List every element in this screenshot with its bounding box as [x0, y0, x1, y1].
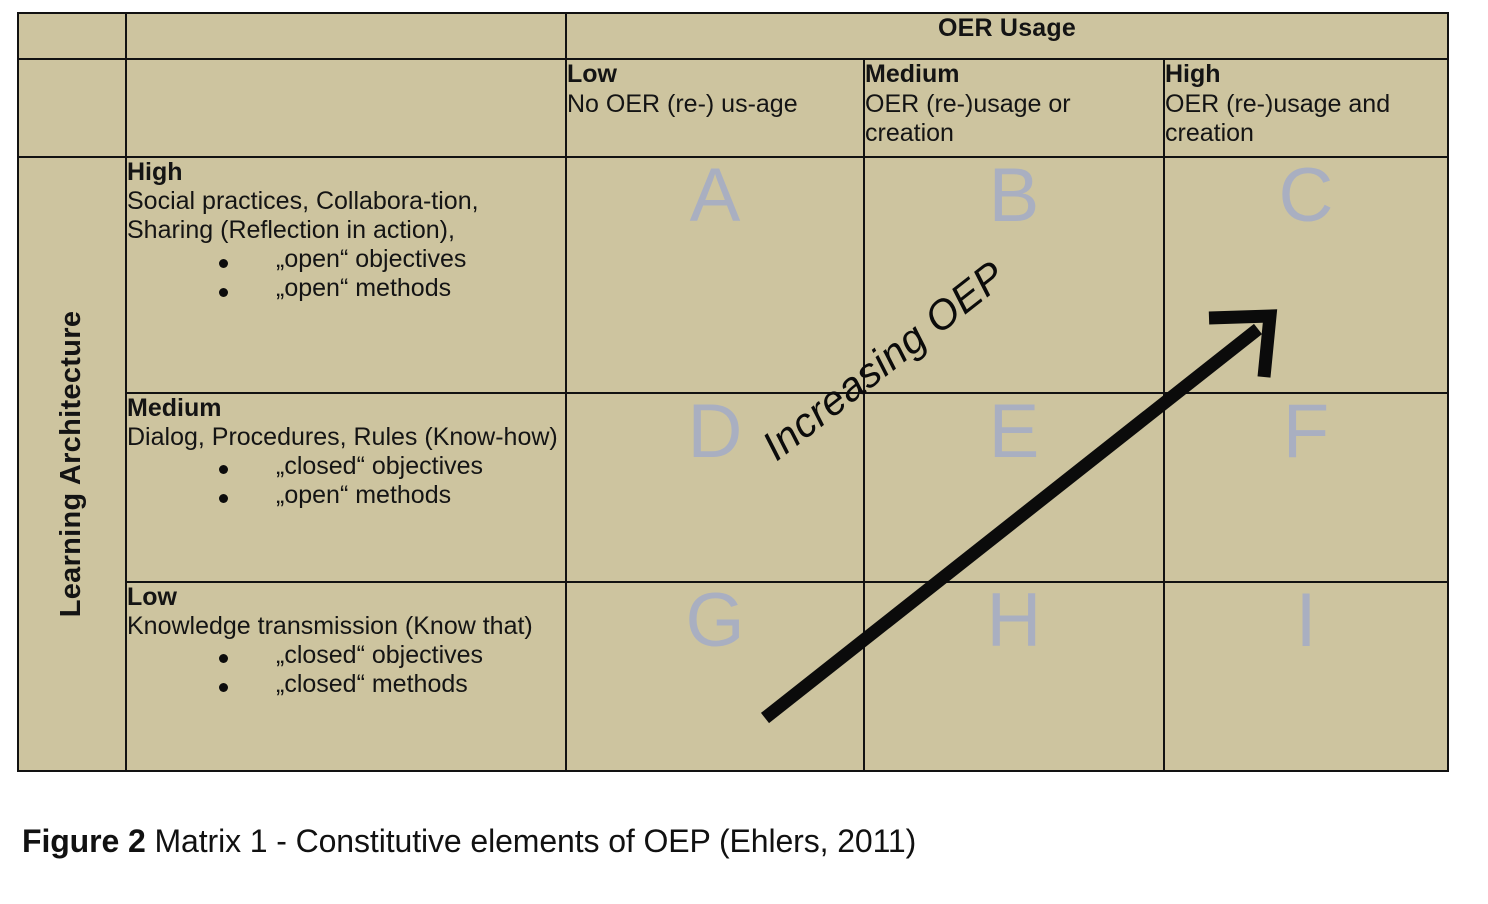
table-row-low: Low Knowledge transmission (Know that) „…: [18, 582, 1448, 771]
row-header-high: High Social practices, Collabora-tion, S…: [126, 157, 566, 393]
row-header-low-bullets: „closed“ objectives „closed“ methods: [127, 641, 565, 699]
cell-letter-E: E: [989, 394, 1040, 470]
matrix-table: OER Usage Low No OER (re-) us-age Medium…: [17, 12, 1449, 772]
list-item-label: „closed“ objectives: [276, 641, 483, 669]
oep-matrix: OER Usage Low No OER (re-) us-age Medium…: [17, 12, 1447, 772]
column-header-medium-desc: OER (re-)usage or creation: [865, 90, 1163, 148]
cell-letter-C: C: [1279, 158, 1334, 234]
bullet-icon: [219, 259, 228, 268]
corner-blank-left: [18, 13, 126, 59]
row-header-medium-level: Medium: [127, 394, 565, 423]
cell-D: D: [566, 393, 864, 582]
row-axis-title: Learning Architecture: [55, 311, 89, 618]
list-item: „closed“ objectives: [219, 452, 565, 481]
column-header-medium-level: Medium: [865, 60, 1163, 89]
column-header-low-desc: No OER (re-) us-age: [567, 90, 863, 119]
column-header-high-level: High: [1165, 60, 1447, 89]
column-axis-title: OER Usage: [566, 13, 1448, 59]
cell-letter-G: G: [685, 583, 744, 659]
corner-blank-left-2: [18, 59, 126, 157]
list-item: „open“ objectives: [219, 245, 565, 274]
bullet-icon: [219, 288, 228, 297]
cell-letter-I: I: [1295, 583, 1316, 659]
corner-blank-2: [126, 59, 566, 157]
row-header-low-level: Low: [127, 583, 565, 612]
figure-container: OER Usage Low No OER (re-) us-age Medium…: [0, 0, 1488, 904]
row-header-high-bullets: „open“ objectives „open“ methods: [127, 245, 565, 303]
row-header-low-desc: Knowledge transmission (Know that): [127, 612, 565, 641]
column-header-high-desc: OER (re-)usage and creation: [1165, 90, 1447, 148]
table-row-column-headers: Low No OER (re-) us-age Medium OER (re-)…: [18, 59, 1448, 157]
cell-I: I: [1164, 582, 1448, 771]
column-header-medium: Medium OER (re-)usage or creation: [864, 59, 1164, 157]
figure-caption-text: Matrix 1 - Constitutive elements of OEP …: [146, 823, 917, 859]
column-header-low-level: Low: [567, 60, 863, 89]
bullet-icon: [219, 683, 228, 692]
bullet-icon: [219, 654, 228, 663]
list-item: „open“ methods: [219, 481, 565, 510]
column-header-low: Low No OER (re-) us-age: [566, 59, 864, 157]
cell-B: B: [864, 157, 1164, 393]
row-header-low: Low Knowledge transmission (Know that) „…: [126, 582, 566, 771]
list-item-label: „closed“ methods: [276, 670, 468, 698]
cell-A: A: [566, 157, 864, 393]
row-header-medium: Medium Dialog, Procedures, Rules (Know-h…: [126, 393, 566, 582]
corner-blank: [126, 13, 566, 59]
list-item-label: „open“ methods: [276, 481, 451, 509]
table-row-high: Learning Architecture High Social practi…: [18, 157, 1448, 393]
column-header-high: High OER (re-)usage and creation: [1164, 59, 1448, 157]
row-axis-title-cell: Learning Architecture: [18, 157, 126, 771]
table-row-banner: OER Usage: [18, 13, 1448, 59]
row-header-medium-desc: Dialog, Procedures, Rules (Know-how): [127, 423, 565, 452]
cell-G: G: [566, 582, 864, 771]
bullet-icon: [219, 465, 228, 474]
list-item: „open“ methods: [219, 274, 565, 303]
list-item-label: „closed“ objectives: [276, 452, 483, 480]
list-item-label: „open“ methods: [276, 274, 451, 302]
figure-caption: Figure 2 Matrix 1 - Constitutive element…: [22, 823, 916, 860]
list-item-label: „open“ objectives: [276, 245, 466, 273]
cell-H: H: [864, 582, 1164, 771]
row-header-high-desc: Social practices, Collabora-tion, Sharin…: [127, 187, 565, 245]
figure-caption-label: Figure 2: [22, 823, 146, 859]
cell-letter-F: F: [1283, 394, 1329, 470]
cell-letter-B: B: [989, 158, 1040, 234]
list-item: „closed“ objectives: [219, 641, 565, 670]
row-header-high-level: High: [127, 158, 565, 187]
cell-C: C: [1164, 157, 1448, 393]
table-row-medium: Medium Dialog, Procedures, Rules (Know-h…: [18, 393, 1448, 582]
cell-letter-H: H: [987, 583, 1042, 659]
cell-E: E: [864, 393, 1164, 582]
row-header-medium-bullets: „closed“ objectives „open“ methods: [127, 452, 565, 510]
bullet-icon: [219, 494, 228, 503]
cell-F: F: [1164, 393, 1448, 582]
list-item: „closed“ methods: [219, 670, 565, 699]
cell-letter-D: D: [688, 394, 743, 470]
cell-letter-A: A: [690, 158, 741, 234]
